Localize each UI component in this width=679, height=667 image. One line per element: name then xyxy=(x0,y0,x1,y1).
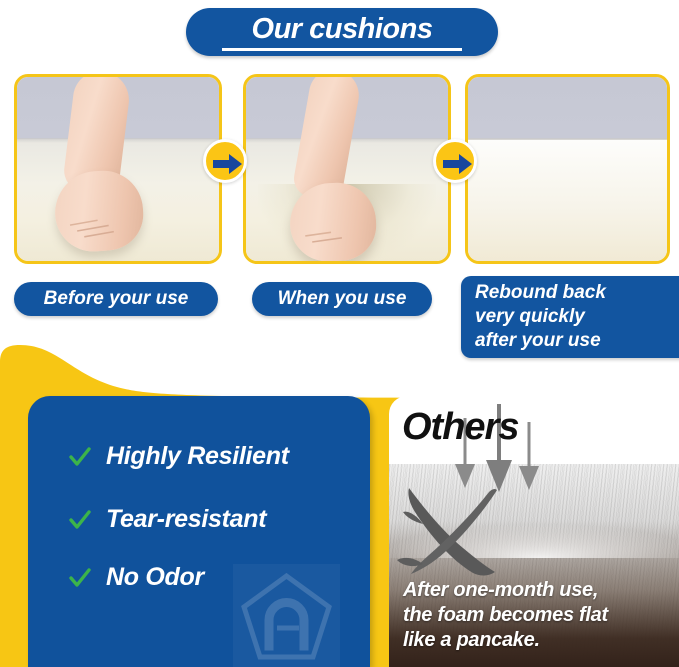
downward-pressure-arrow-icon xyxy=(516,422,542,494)
others-panel: Others After one-month use, the foam bec… xyxy=(389,396,679,667)
pentagon-logo-icon xyxy=(233,564,340,667)
others-caption-line-1: After one-month use, xyxy=(403,578,608,603)
page-title-banner: Our cushions xyxy=(186,8,498,56)
step-label-after-line-2: very quickly xyxy=(475,305,679,329)
feature-item-1: Tear-resistant xyxy=(68,505,266,534)
feature-item-0: Highly Resilient xyxy=(68,442,289,471)
green-check-icon xyxy=(68,445,92,469)
step-arrow-badge-2 xyxy=(433,139,477,183)
step-photo-during xyxy=(243,74,451,264)
page-title: Our cushions xyxy=(186,10,498,48)
others-caption-line-3: like a pancake. xyxy=(403,628,608,653)
rebounded-surface xyxy=(468,140,667,261)
cushion-scene-before xyxy=(17,77,219,261)
cushion-scene-during xyxy=(246,77,448,261)
step-label-during: When you use xyxy=(252,282,432,316)
feature-label-2: No Odor xyxy=(106,563,204,592)
features-panel: Highly Resilient Tear-resistant No Odor xyxy=(28,396,370,667)
brush-stroke-x-icon xyxy=(397,482,509,582)
infographic-page: Our cushions xyxy=(0,0,679,667)
others-caption-line-2: the foam becomes flat xyxy=(403,603,608,628)
step-arrow-badge-1 xyxy=(203,139,247,183)
others-caption: After one-month use, the foam becomes fl… xyxy=(403,578,608,653)
step-photo-after xyxy=(465,74,670,264)
step-label-after-line-1: Rebound back xyxy=(475,281,679,305)
feature-item-2: No Odor xyxy=(68,563,204,592)
feature-label-1: Tear-resistant xyxy=(106,505,266,534)
feature-label-0: Highly Resilient xyxy=(106,442,289,471)
right-arrow-icon xyxy=(443,152,473,176)
green-check-icon xyxy=(68,508,92,532)
others-title: Others xyxy=(402,406,518,449)
green-check-icon xyxy=(68,566,92,590)
title-underline xyxy=(222,48,462,51)
right-arrow-icon xyxy=(213,152,243,176)
cushion-scene-after xyxy=(468,77,667,261)
step-label-before: Before your use xyxy=(14,282,218,316)
pentagon-brand-logo-watermark xyxy=(233,564,340,667)
step-photo-before xyxy=(14,74,222,264)
